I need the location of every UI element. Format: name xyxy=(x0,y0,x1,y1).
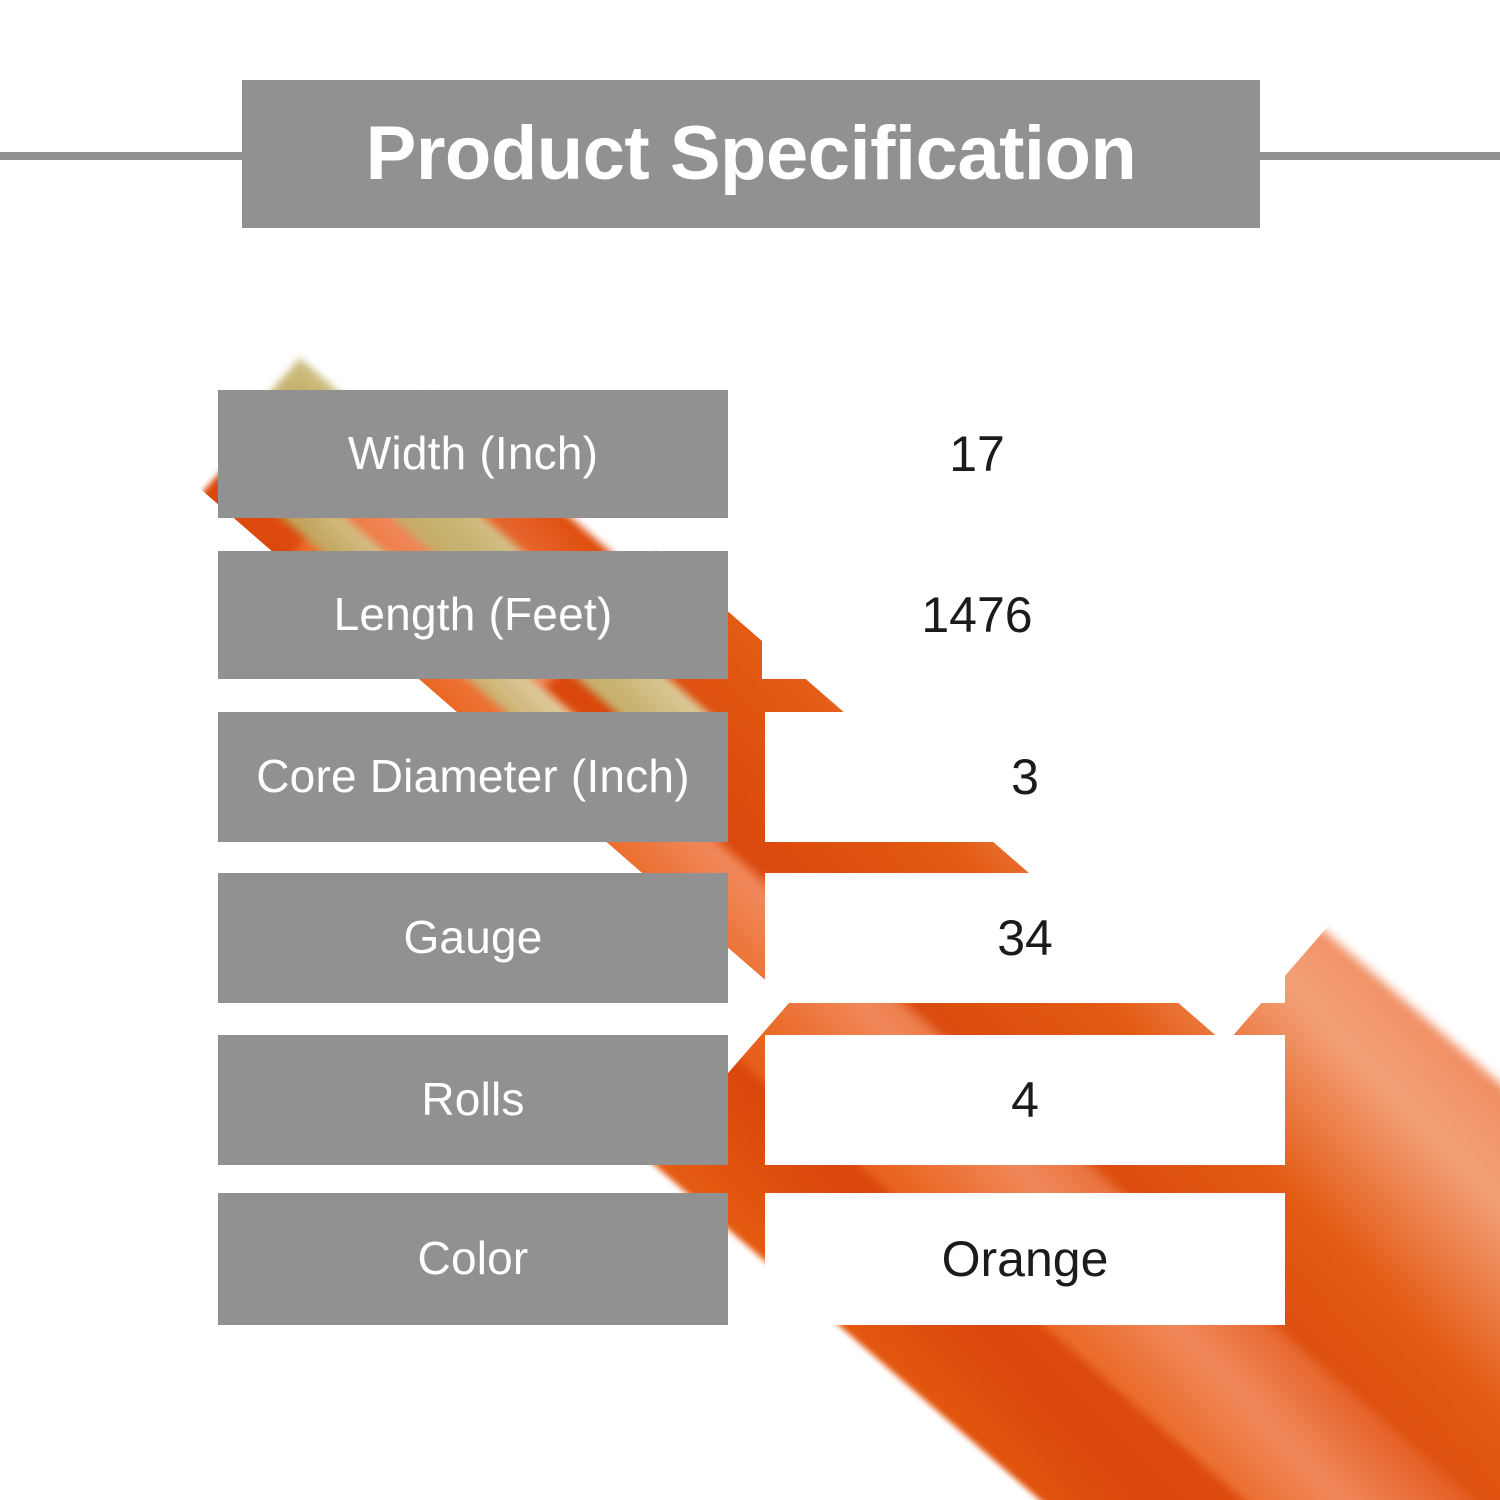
spec-label-width: Width (Inch) xyxy=(218,390,728,518)
product-specification-infographic: Product Specification Width (Inch) 17 Le… xyxy=(0,0,1500,1500)
spec-label-length: Length (Feet) xyxy=(218,551,728,679)
spec-value-width: 17 xyxy=(762,390,1192,518)
page-title: Product Specification xyxy=(366,116,1137,192)
spec-label-color: Color xyxy=(218,1193,728,1325)
spec-label-rolls: Rolls xyxy=(218,1035,728,1165)
spec-label-gauge: Gauge xyxy=(218,873,728,1003)
spec-value-rolls: 4 xyxy=(765,1035,1285,1165)
header-banner: Product Specification xyxy=(242,80,1260,228)
spec-label-core-diameter: Core Diameter (Inch) xyxy=(218,712,728,842)
spec-value-length: 1476 xyxy=(762,551,1192,679)
spec-value-core-diameter: 3 xyxy=(765,712,1285,842)
spec-value-color: Orange xyxy=(765,1193,1285,1325)
spec-value-gauge: 34 xyxy=(765,873,1285,1003)
